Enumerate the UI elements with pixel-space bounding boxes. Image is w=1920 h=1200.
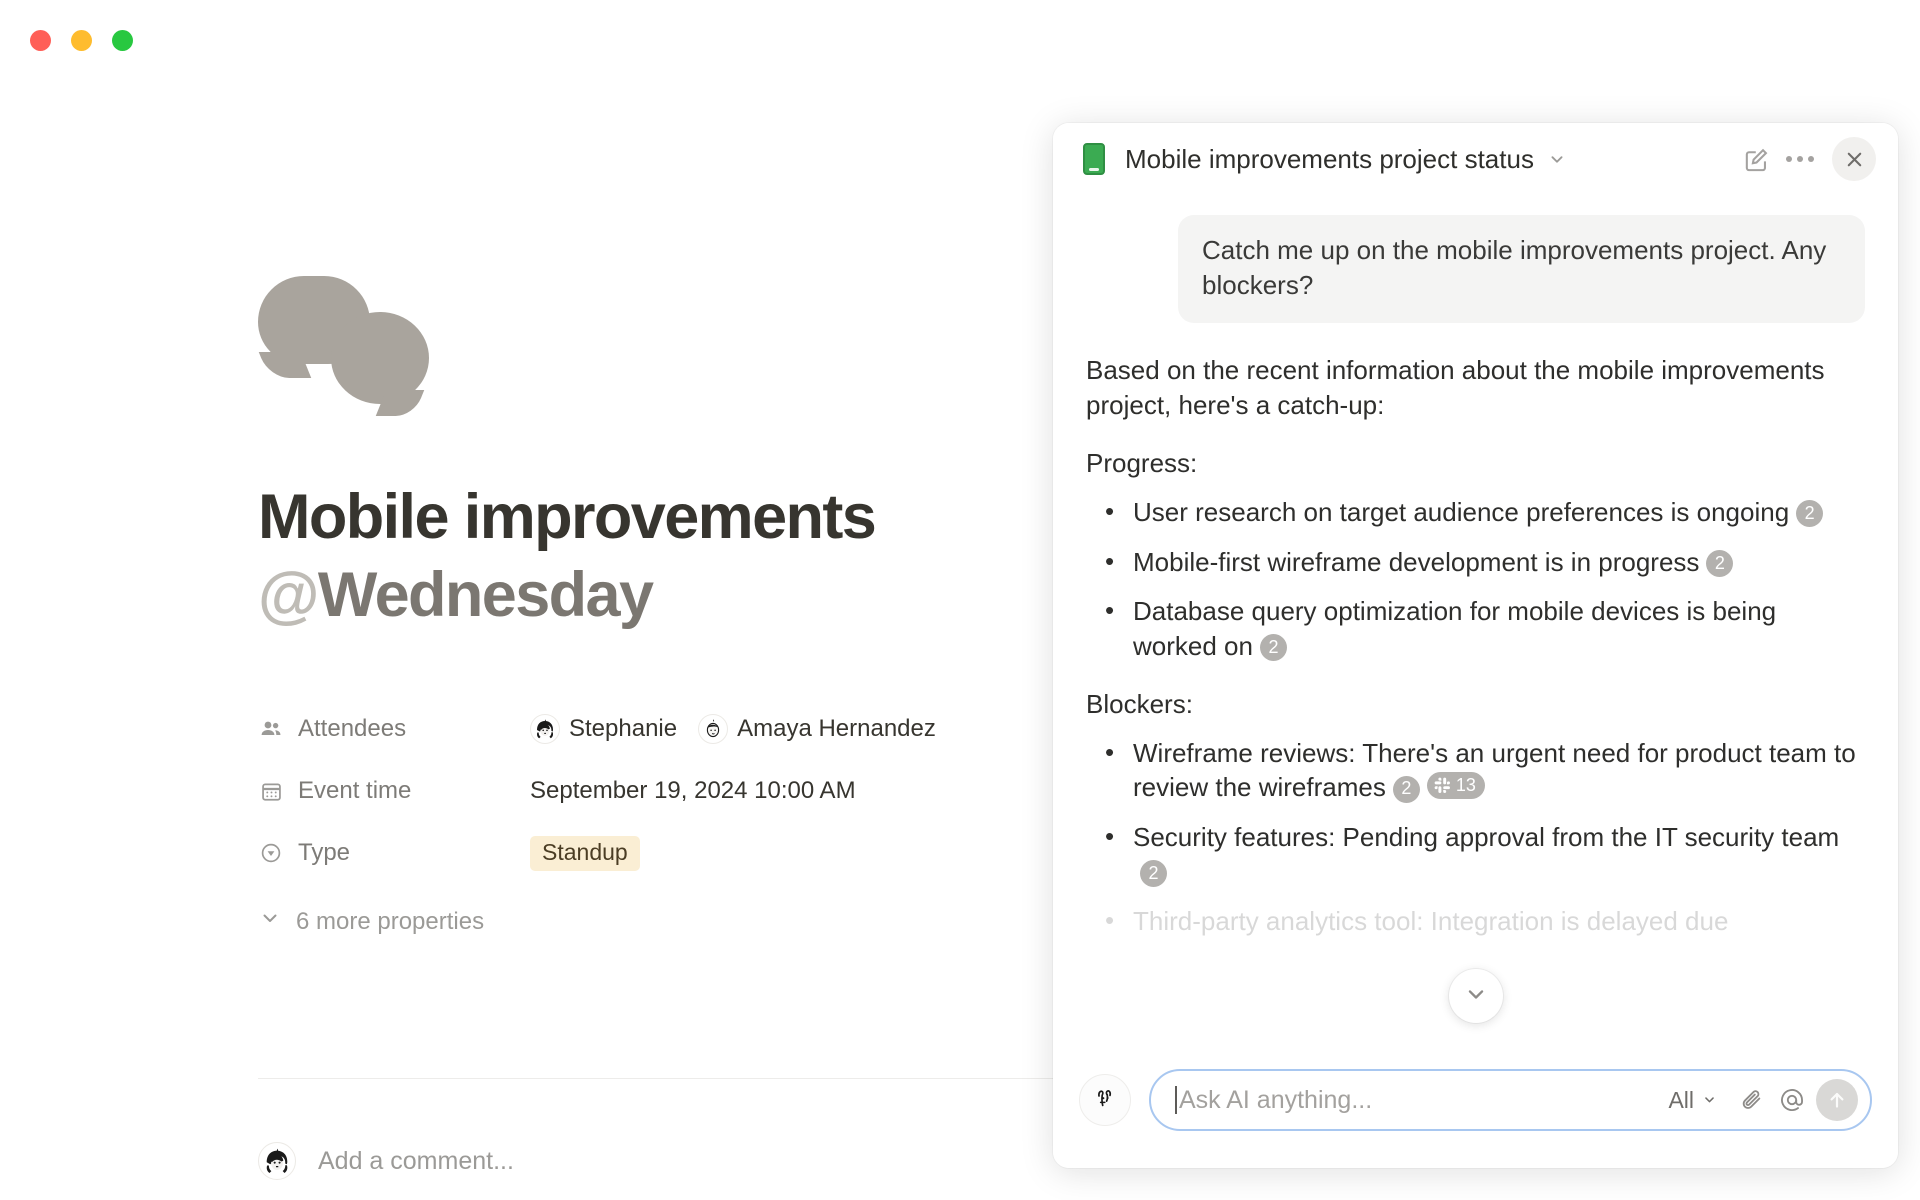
send-button[interactable] bbox=[1816, 1079, 1858, 1121]
ai-face-avatar[interactable] bbox=[1079, 1074, 1131, 1126]
list-item: User research on target audience prefere… bbox=[1086, 495, 1865, 530]
comment-input-placeholder[interactable]: Add a comment... bbox=[318, 1147, 514, 1176]
scope-label: All bbox=[1668, 1087, 1694, 1114]
close-icon[interactable] bbox=[1832, 137, 1876, 181]
list-item-text: Third-party analytics tool: Integration … bbox=[1133, 906, 1728, 936]
blockers-list: Wireframe reviews: There's an urgent nee… bbox=[1086, 736, 1865, 939]
more-horizontal-icon[interactable] bbox=[1778, 137, 1822, 181]
avatar bbox=[698, 714, 728, 744]
more-properties-toggle[interactable]: 6 more properties bbox=[258, 906, 1138, 937]
slack-citation-badge[interactable]: 13 bbox=[1427, 772, 1485, 799]
window-maximize-button[interactable] bbox=[112, 30, 133, 51]
content-divider bbox=[258, 1078, 1138, 1079]
chevron-down-icon[interactable] bbox=[1546, 148, 1568, 170]
at-icon[interactable] bbox=[1772, 1080, 1812, 1120]
chevron-down-icon bbox=[1462, 980, 1490, 1013]
list-item-text: Database query optimization for mobile d… bbox=[1133, 596, 1776, 661]
traffic-lights bbox=[30, 30, 133, 51]
avatar bbox=[530, 714, 560, 744]
property-row-type[interactable]: Type Standup bbox=[258, 822, 1138, 884]
speech-bubbles-icon bbox=[258, 268, 428, 388]
calendar-icon bbox=[258, 778, 284, 804]
page-title-at: @ bbox=[258, 560, 318, 630]
section-heading-blockers: Blockers: bbox=[1086, 687, 1865, 722]
citation-badge[interactable]: 2 bbox=[1260, 634, 1287, 661]
ai-conversation: Today 3:05 PM Catch me up on the mobile … bbox=[1053, 123, 1898, 1088]
window-close-button[interactable] bbox=[30, 30, 51, 51]
status-badge[interactable]: Standup bbox=[530, 836, 640, 871]
add-comment-row[interactable]: Add a comment... bbox=[258, 1142, 514, 1180]
property-value-attendees[interactable]: Stephanie Amaya Hernandez bbox=[530, 714, 936, 744]
list-item: Database query optimization for mobile d… bbox=[1086, 594, 1865, 663]
list-item: Security features: Pending approval from… bbox=[1086, 820, 1865, 889]
citation-badge[interactable]: 2 bbox=[1140, 860, 1167, 887]
property-name-attendees: Attendees bbox=[298, 715, 406, 743]
ai-intro-text: Based on the recent information about th… bbox=[1086, 353, 1865, 422]
attendee-name-2: Amaya Hernandez bbox=[737, 715, 936, 743]
citation-badge[interactable]: 2 bbox=[1706, 550, 1733, 577]
list-item: Third-party analytics tool: Integration … bbox=[1086, 904, 1865, 939]
list-item: Mobile-first wireframe development is in… bbox=[1086, 545, 1865, 580]
user-message: Catch me up on the mobile improvements p… bbox=[1178, 215, 1865, 323]
list-item-text: Security features: Pending approval from… bbox=[1133, 822, 1839, 852]
ask-ai-input[interactable]: Ask AI anything... All bbox=[1149, 1069, 1872, 1131]
citation-badge[interactable]: 2 bbox=[1393, 776, 1420, 803]
property-row-attendees[interactable]: Attendees bbox=[258, 698, 1138, 760]
mobile-phone-emoji bbox=[1083, 143, 1105, 175]
property-name-type: Type bbox=[298, 839, 350, 867]
window-minimize-button[interactable] bbox=[71, 30, 92, 51]
ai-composer: Ask AI anything... All bbox=[1053, 1050, 1898, 1168]
paperclip-icon[interactable] bbox=[1732, 1080, 1772, 1120]
window-titlebar bbox=[0, 0, 1920, 68]
properties-list: Attendees bbox=[258, 698, 1138, 937]
citation-badge[interactable]: 2 bbox=[1796, 500, 1823, 527]
ai-assistant-panel: Today 3:05 PM Catch me up on the mobile … bbox=[1053, 123, 1898, 1168]
chevron-down-icon bbox=[1701, 1087, 1718, 1114]
list-item-text: User research on target audience prefere… bbox=[1133, 497, 1789, 527]
scope-dropdown[interactable]: All bbox=[1668, 1087, 1718, 1114]
list-item-text: Wireframe reviews: There's an urgent nee… bbox=[1133, 738, 1856, 803]
chevron-down-icon bbox=[258, 906, 282, 937]
page-title-main: Mobile improvements bbox=[258, 482, 875, 552]
attendee-name-1: Stephanie bbox=[569, 715, 677, 743]
panel-header: Mobile improvements project status bbox=[1053, 123, 1898, 195]
property-value-event-time[interactable]: September 19, 2024 10:00 AM bbox=[530, 777, 856, 805]
select-icon bbox=[258, 840, 284, 866]
ask-ai-placeholder: Ask AI anything... bbox=[1179, 1086, 1668, 1115]
people-icon bbox=[258, 716, 284, 742]
avatar bbox=[258, 1142, 296, 1180]
more-properties-label: 6 more properties bbox=[296, 908, 484, 936]
page-title[interactable]: Mobile improvements @Wednesday bbox=[258, 478, 1138, 634]
page-title-mention[interactable]: Wednesday bbox=[318, 560, 653, 630]
slack-icon bbox=[1434, 777, 1451, 794]
slack-citation-count: 13 bbox=[1456, 774, 1476, 798]
document-area: Mobile improvements @Wednesday Attend bbox=[0, 68, 1180, 1200]
text-caret bbox=[1175, 1086, 1177, 1114]
panel-title: Mobile improvements project status bbox=[1125, 144, 1534, 175]
list-item-text: Mobile-first wireframe development is in… bbox=[1133, 547, 1699, 577]
section-heading-progress: Progress: bbox=[1086, 446, 1865, 481]
property-name-event-time: Event time bbox=[298, 777, 411, 805]
list-item: Wireframe reviews: There's an urgent nee… bbox=[1086, 736, 1865, 805]
app-window: Mobile improvements @Wednesday Attend bbox=[0, 0, 1920, 1200]
property-row-event-time[interactable]: Event time September 19, 2024 10:00 AM bbox=[258, 760, 1138, 822]
compose-icon[interactable] bbox=[1734, 137, 1778, 181]
scroll-down-button[interactable] bbox=[1449, 969, 1503, 1023]
progress-list: User research on target audience prefere… bbox=[1086, 495, 1865, 663]
